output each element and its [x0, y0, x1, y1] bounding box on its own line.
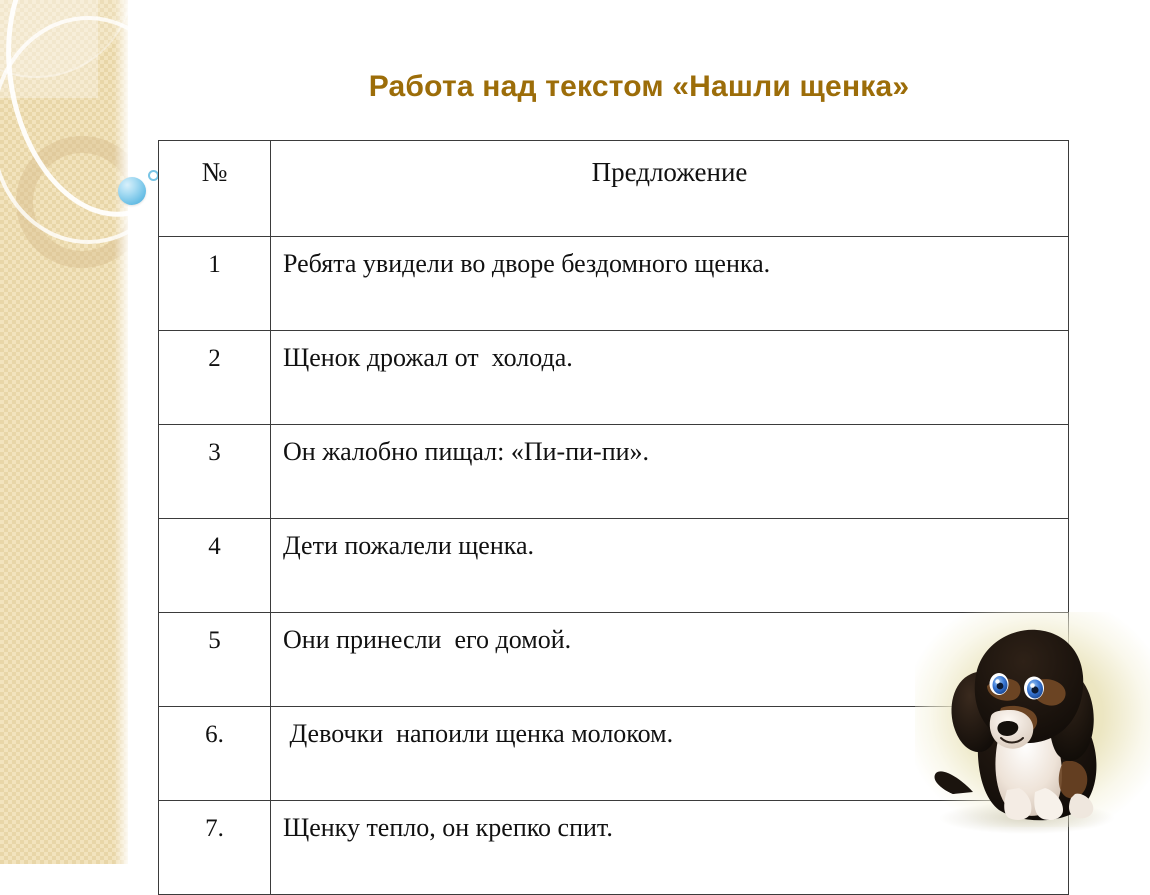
row-number: 3 [159, 425, 271, 519]
row-number: 5 [159, 613, 271, 707]
column-header-number: № [159, 141, 271, 237]
table-row: 2 Щенок дрожал от холода. [159, 331, 1069, 425]
sidebar-arc-decoration-secondary [0, 16, 128, 244]
table-row: 7. Щенку тепло, он крепко спит. [159, 801, 1069, 895]
row-number: 6. [159, 707, 271, 801]
row-number: 1 [159, 237, 271, 331]
table-header-row: № Предложение [159, 141, 1069, 237]
row-sentence: Они принесли его домой. [271, 613, 1069, 707]
row-sentence: Щенок дрожал от холода. [271, 331, 1069, 425]
column-header-sentence: Предложение [271, 141, 1069, 237]
table-row: 3 Он жалобно пищал: «Пи-пи-пи». [159, 425, 1069, 519]
row-sentence: Он жалобно пищал: «Пи-пи-пи». [271, 425, 1069, 519]
table-row: 1 Ребята увидели во дворе бездомного щен… [159, 237, 1069, 331]
table-row: 5 Они принесли его домой. [159, 613, 1069, 707]
row-number: 7. [159, 801, 271, 895]
row-number: 4 [159, 519, 271, 613]
page-title: Работа над текстом «Нашли щенка» [128, 70, 1150, 104]
row-sentence: Щенку тепло, он крепко спит. [271, 801, 1069, 895]
blue-sphere-icon [118, 177, 146, 205]
row-number: 2 [159, 331, 271, 425]
sentences-table: № Предложение 1 Ребята увидели во дворе … [158, 140, 1069, 895]
decorative-sidebar [0, 0, 128, 864]
row-sentence: Дети пожалели щенка. [271, 519, 1069, 613]
row-sentence: Девочки напоили щенка молоком. [271, 707, 1069, 801]
table-body: № Предложение 1 Ребята увидели во дворе … [159, 141, 1069, 895]
sidebar-edge-shading [114, 0, 128, 864]
row-sentence: Ребята увидели во дворе бездомного щенка… [271, 237, 1069, 331]
table-row: 6. Девочки напоили щенка молоком. [159, 707, 1069, 801]
table-row: 4 Дети пожалели щенка. [159, 519, 1069, 613]
